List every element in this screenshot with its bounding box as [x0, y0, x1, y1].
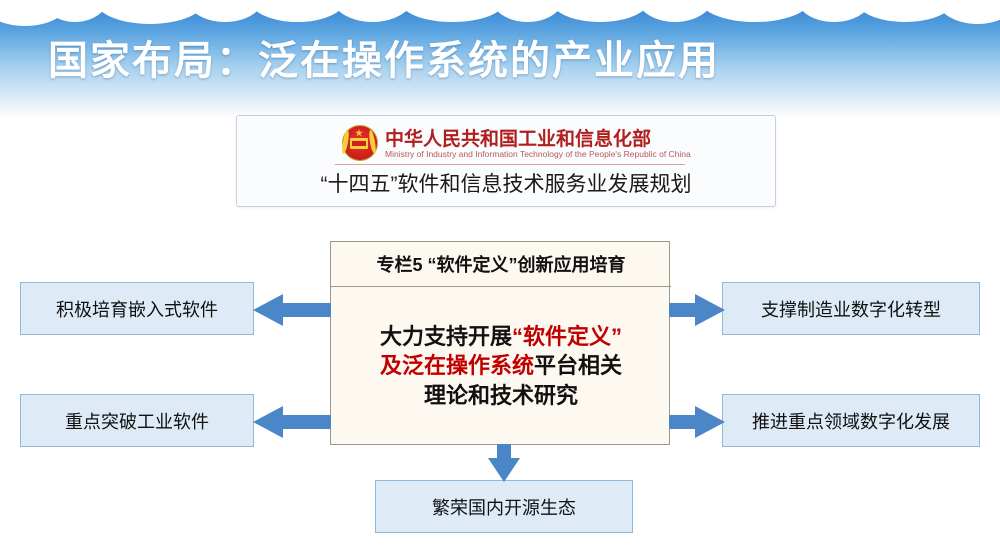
- box-breakthrough-industrial-software: 重点突破工业软件: [20, 394, 254, 447]
- arrow-right-bottom: [669, 404, 725, 440]
- center-box-header: 专栏5 “软件定义”创新应用培育: [331, 242, 671, 287]
- arrow-right-icon: [669, 292, 725, 328]
- arrow-left-bottom: [253, 404, 331, 440]
- arrow-down-icon: [486, 444, 522, 482]
- box-support-manufacturing-digital-transformation: 支撑制造业数字化转型: [722, 282, 980, 335]
- ministry-name-cn: 中华人民共和国工业和信息化部: [385, 124, 651, 151]
- box-cultivate-embedded-software: 积极培育嵌入式软件: [20, 282, 254, 335]
- plan-title: “十四五”软件和信息技术服务业发展规划: [237, 168, 775, 198]
- slide-canvas: 国家布局：泛在操作系统的产业应用 中华人民共和国工业和信息化部 Ministry…: [0, 0, 1000, 552]
- box-prosper-domestic-open-source-ecosystem: 繁荣国内开源生态: [375, 480, 633, 533]
- divider: [335, 164, 685, 165]
- ministry-header-card: 中华人民共和国工业和信息化部 Ministry of Industry and …: [236, 115, 776, 207]
- arrow-right-top: [669, 292, 725, 328]
- center-body-line-2-b: 平台相关: [534, 353, 622, 378]
- page-title: 国家布局：泛在操作系统的产业应用: [48, 28, 720, 86]
- center-policy-box: 专栏5 “软件定义”创新应用培育 大力支持开展“软件定义” 及泛在操作系统平台相…: [330, 241, 670, 445]
- arrow-left-top: [253, 292, 331, 328]
- center-body-line-3: 理论和技术研究: [424, 381, 578, 410]
- center-box-body: 大力支持开展“软件定义” 及泛在操作系统平台相关 理论和技术研究: [331, 287, 671, 445]
- arrow-bottom: [486, 444, 522, 482]
- ministry-name-en: Ministry of Industry and Information Tec…: [385, 149, 691, 159]
- arrow-left-icon: [253, 404, 331, 440]
- center-body-line-1-a: 大力支持开展: [380, 324, 512, 349]
- china-national-emblem-icon: [342, 125, 376, 159]
- center-body-line-1: 大力支持开展“软件定义”: [380, 322, 622, 351]
- box-promote-key-field-digital-development: 推进重点领域数字化发展: [722, 394, 980, 447]
- center-body-line-2-highlight: 及泛在操作系统: [380, 353, 534, 378]
- center-body-line-1-highlight: “软件定义”: [512, 324, 622, 349]
- center-body-line-2: 及泛在操作系统平台相关: [380, 351, 622, 380]
- arrow-left-icon: [253, 292, 331, 328]
- arrow-right-icon: [669, 404, 725, 440]
